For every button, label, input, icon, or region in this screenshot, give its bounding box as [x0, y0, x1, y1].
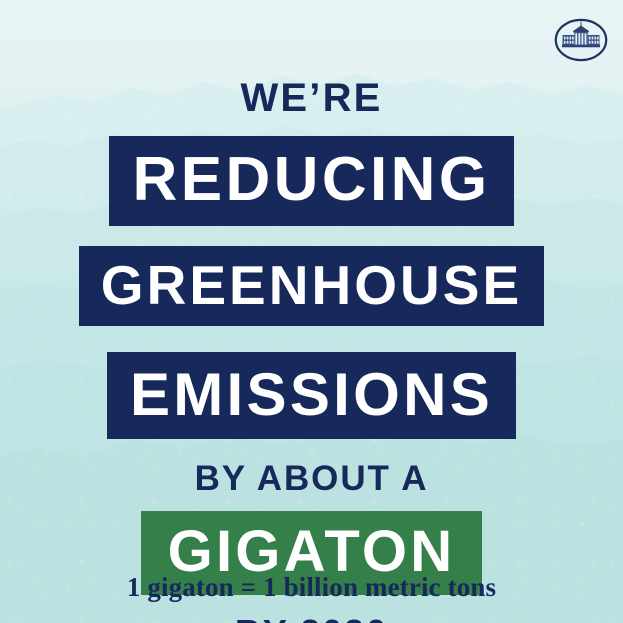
headline-line-greenhouse: GREENHOUSE: [79, 246, 544, 326]
headline-line-by-about-a: BY ABOUT A: [195, 461, 429, 496]
headline-stack: WE’RE REDUCING GREENHOUSE EMISSIONS BY A…: [0, 78, 623, 623]
headline-line-were: WE’RE: [240, 78, 382, 118]
white-house-seal-icon: [553, 12, 609, 68]
headline-line-emissions: EMISSIONS: [107, 352, 516, 439]
headline-line-reducing: REDUCING: [109, 136, 515, 226]
headline-line-by-2030: BY 2030: [235, 615, 388, 623]
footnote-text: 1 gigaton = 1 billion metric tons: [0, 572, 623, 603]
greenhouse-emissions-poster: WE’RE REDUCING GREENHOUSE EMISSIONS BY A…: [0, 0, 623, 623]
